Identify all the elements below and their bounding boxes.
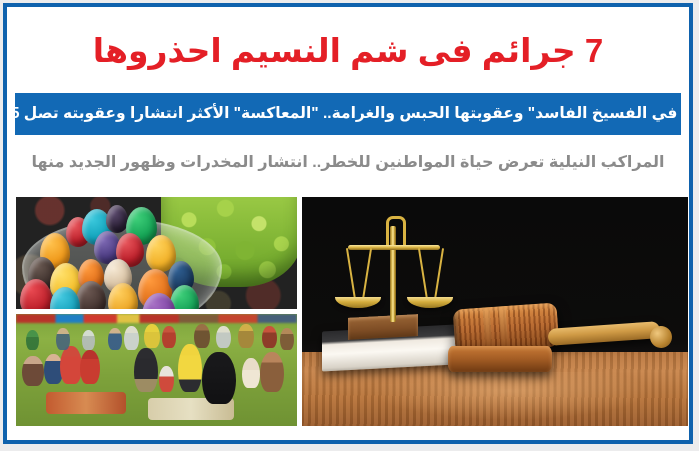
gavel-band: [483, 307, 493, 351]
scales-base: [348, 314, 418, 340]
highlight-banner: "التجارة في الفسيخ الفاسد" وعقوبتها الحب…: [15, 93, 681, 135]
article-subtitle: المراكب النيلية تعرض حياة المواطنين للخط…: [15, 151, 681, 175]
picnic-person: [124, 326, 139, 350]
photo-column-left: [16, 197, 297, 426]
article-card-inner: 7 جرائم فى شم النسيم احذروها "التجارة في…: [7, 7, 689, 440]
gavel-band: [498, 306, 508, 350]
gavel-sound-block: [448, 346, 552, 372]
picnic-person: [194, 324, 210, 348]
photo-scales-gavel: [302, 197, 688, 426]
photo-grid: [16, 197, 688, 426]
article-card: 7 جرائم فى شم النسيم احذروها "التجارة في…: [3, 3, 693, 444]
picnic-person: [216, 326, 231, 348]
picnic-person: [26, 330, 39, 350]
article-page: 7 جرائم فى شم النسيم احذروها "التجارة في…: [0, 0, 699, 451]
crowd-far-background: [16, 314, 297, 323]
picnic-person: [56, 328, 70, 350]
picnic-person: [108, 328, 122, 350]
table-light-reflection: [371, 372, 649, 420]
egg: [106, 205, 128, 233]
picnic-person: [202, 352, 236, 404]
picnic-person: [60, 346, 82, 384]
picnic-person: [238, 324, 254, 348]
picnic-person: [178, 344, 202, 392]
highlight-banner-text: "التجارة في الفسيخ الفاسد" وعقوبتها الحب…: [15, 104, 681, 124]
picnic-person: [134, 348, 158, 392]
scales-beam: [348, 245, 440, 250]
picnic-person: [280, 328, 294, 350]
picnic-person: [80, 350, 100, 384]
page-title: 7 جرائم فى شم النسيم احذروها: [7, 31, 689, 71]
scales-top-hook: [386, 216, 406, 245]
photo-column-right: [302, 197, 688, 426]
picnic-person: [144, 324, 160, 348]
photo-eggs-salad: [16, 197, 297, 309]
picnic-person: [22, 356, 44, 386]
picnic-person: [162, 326, 176, 348]
picnic-person: [242, 358, 260, 388]
picnic-person: [159, 366, 174, 392]
picnic-person: [260, 352, 284, 392]
picnic-person: [82, 330, 95, 350]
picnic-person: [262, 326, 277, 348]
photo-park-picnic: [16, 314, 297, 426]
picnic-mat: [46, 392, 126, 414]
